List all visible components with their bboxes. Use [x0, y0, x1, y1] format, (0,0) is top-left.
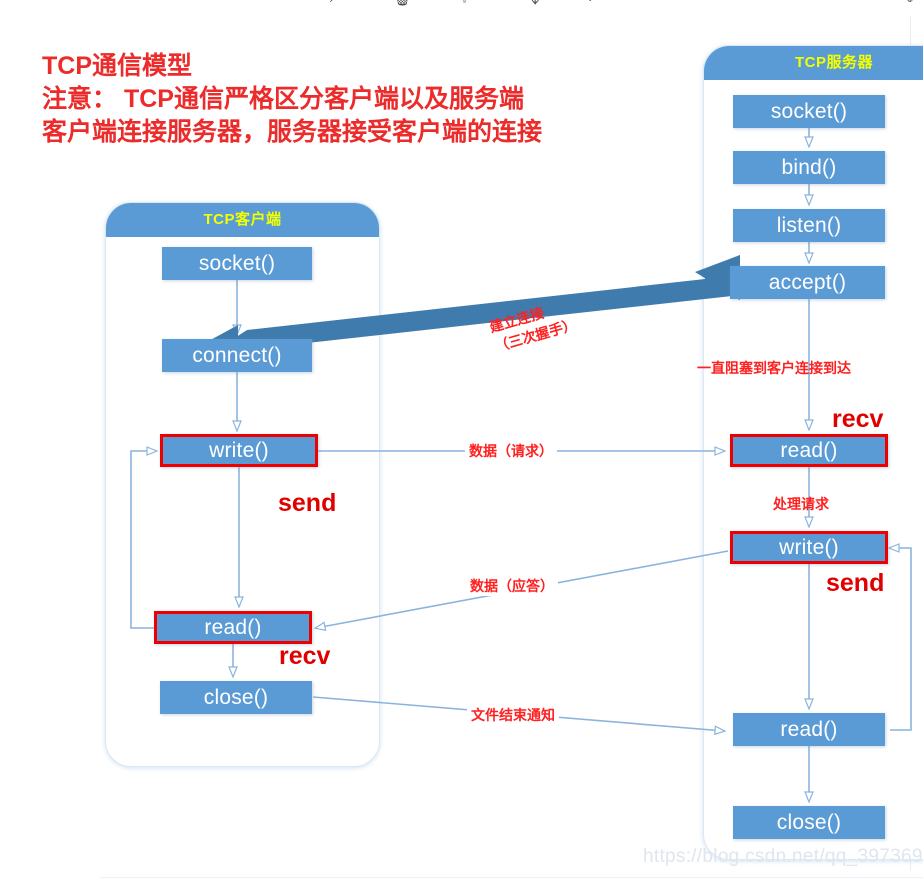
client-send-label: send	[278, 489, 336, 518]
client-recv-label: recv	[279, 642, 330, 671]
zoom-out-icon[interactable]: ⤑	[322, 0, 334, 6]
title-line-2: 注意： TCP通信严格区分客户端以及服务端	[42, 83, 662, 116]
chevron-down-icon[interactable]: ∨	[459, 0, 470, 6]
diagram-canvas: ⤑ 🗑 ∨ ⤵ ⌐ ✐ TCP通信模型 注意： TCP通信严格区分客户端以及服务…	[0, 0, 923, 888]
delete-icon[interactable]: 🗑	[393, 0, 412, 6]
page-title: TCP通信模型 注意： TCP通信严格区分客户端以及服务端 客户端连接服务器，服…	[42, 50, 662, 149]
rotate-icon[interactable]: ⤵	[524, 0, 539, 6]
server-step-socket[interactable]: socket()	[733, 95, 885, 128]
server-step-read-request[interactable]: read()	[730, 434, 888, 467]
server-block-note: 一直阻塞到客户连接到达	[697, 358, 851, 378]
client-step-connect[interactable]: connect()	[162, 339, 312, 372]
server-recv-label: recv	[832, 405, 883, 434]
client-step-socket[interactable]: socket()	[162, 247, 312, 280]
server-step-listen[interactable]: listen()	[733, 209, 885, 242]
request-label: 数据（请求）	[465, 441, 557, 461]
crop-icon[interactable]: ⌐	[588, 0, 601, 6]
watermark: https://blog.csdn.net/qq_39736982	[643, 846, 923, 868]
handshake-label: 建立连接 （三次握手）	[487, 295, 579, 357]
eof-label: 文件结束通知	[467, 705, 559, 725]
title-line-3: 客户端连接服务器，服务器接受客户端的连接	[42, 116, 662, 149]
server-panel-header: TCP服务器	[704, 46, 923, 80]
client-step-write[interactable]: write()	[160, 434, 318, 467]
client-panel-header: TCP客户端	[106, 203, 379, 237]
client-step-close[interactable]: close()	[160, 681, 312, 714]
client-step-read[interactable]: read()	[154, 611, 312, 644]
edit-icon[interactable]: ✐	[906, 0, 919, 6]
server-step-write[interactable]: write()	[730, 531, 888, 564]
server-step-accept[interactable]: accept()	[730, 266, 885, 299]
toolbar: ⤑ 🗑 ∨ ⤵ ⌐ ✐	[0, 0, 923, 16]
server-process-note: 处理请求	[773, 494, 829, 514]
server-send-label: send	[826, 569, 884, 598]
bottom-divider	[100, 877, 923, 878]
title-line-1: TCP通信模型	[42, 50, 662, 83]
server-step-close[interactable]: close()	[733, 806, 885, 839]
response-label: 数据（应答）	[466, 576, 558, 596]
server-step-bind[interactable]: bind()	[733, 151, 885, 184]
server-step-read-eof[interactable]: read()	[733, 713, 885, 746]
